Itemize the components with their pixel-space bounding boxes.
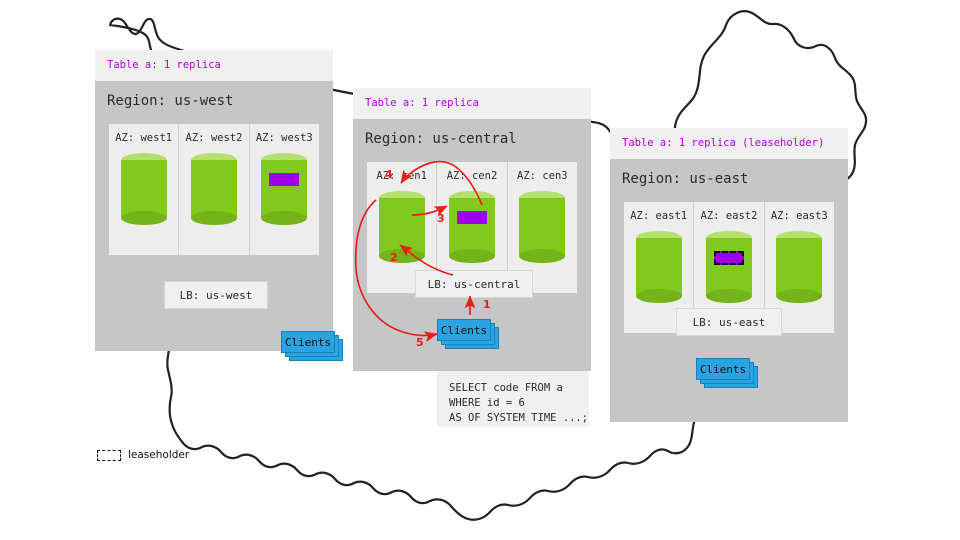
load-balancer-us-west[interactable]: LB: us-west (164, 281, 268, 309)
az-label-east2: AZ: east2 (701, 210, 758, 222)
cylinder-east2[interactable] (706, 231, 752, 303)
clients-label-us-west[interactable]: Clients (281, 331, 335, 353)
clients-us-central[interactable]: Clients (437, 319, 499, 349)
az-strip-us-west: AZ: west1 AZ: west2 AZ: west3 (109, 124, 319, 255)
region-header-us-east: Table a: 1 replica (leaseholder) (610, 128, 848, 159)
cylinder-bottom-west2 (191, 211, 237, 225)
cylinder-body-cen1 (379, 198, 425, 256)
leaseholder-swatch-icon (97, 450, 121, 461)
cylinder-west3[interactable] (261, 153, 307, 225)
cylinder-cen1[interactable] (379, 191, 425, 263)
az-label-west2: AZ: west2 (186, 132, 243, 144)
az-label-west1: AZ: west1 (115, 132, 172, 144)
cylinder-bottom-cen2 (449, 249, 495, 263)
cylinder-body-cen3 (519, 198, 565, 256)
cylinder-bottom-east2 (706, 289, 752, 303)
az-label-east1: AZ: east1 (630, 210, 687, 222)
step-number-1: 1 (483, 298, 491, 311)
step-number-4: 4 (385, 168, 393, 181)
az-label-cen1: AZ: cen1 (376, 170, 427, 182)
cylinder-bottom-west1 (121, 211, 167, 225)
cylinder-body-cen2 (449, 198, 495, 256)
cylinder-east1[interactable] (636, 231, 682, 303)
cylinder-cen2[interactable] (449, 191, 495, 263)
cylinder-body-east1 (636, 238, 682, 296)
az-label-cen2: AZ: cen2 (447, 170, 498, 182)
region-panel-us-east: Table a: 1 replica (leaseholder) Region:… (610, 128, 848, 422)
az-cell-west2[interactable]: AZ: west2 (179, 124, 249, 255)
cylinder-bottom-east3 (776, 289, 822, 303)
region-title-us-west: Region: us-west (95, 81, 333, 109)
replica-block-west3[interactable] (269, 173, 299, 186)
clients-label-us-east[interactable]: Clients (696, 358, 750, 380)
step-number-3: 3 (437, 212, 445, 225)
sql-query-note: SELECT code FROM a WHERE id = 6 AS OF SY… (437, 371, 589, 427)
cylinder-bottom-cen3 (519, 249, 565, 263)
cylinder-body-east2 (706, 238, 752, 296)
region-header-us-west: Table a: 1 replica (95, 50, 333, 81)
az-label-east3: AZ: east3 (771, 210, 828, 222)
region-title-us-central: Region: us-central (353, 119, 591, 147)
clients-us-west[interactable]: Clients (281, 331, 343, 361)
az-cell-west3[interactable]: AZ: west3 (250, 124, 319, 255)
az-cell-west1[interactable]: AZ: west1 (109, 124, 179, 255)
cylinder-body-west2 (191, 160, 237, 218)
clients-label-us-central[interactable]: Clients (437, 319, 491, 341)
replica-block-east2-leaseholder[interactable] (714, 251, 744, 265)
cylinder-bottom-cen1 (379, 249, 425, 263)
replica-block-cen2[interactable] (457, 211, 487, 224)
az-label-cen3: AZ: cen3 (517, 170, 568, 182)
cylinder-bottom-east1 (636, 289, 682, 303)
region-panel-us-west: Table a: 1 replica Region: us-west AZ: w… (95, 50, 333, 351)
cylinder-body-west1 (121, 160, 167, 218)
legend: leaseholder (97, 449, 189, 461)
clients-us-east[interactable]: Clients (696, 358, 758, 388)
step-number-2: 2 (390, 251, 398, 264)
region-title-us-east: Region: us-east (610, 159, 848, 187)
region-panel-us-central: Table a: 1 replica Region: us-central AZ… (353, 88, 591, 371)
cylinder-body-east3 (776, 238, 822, 296)
cylinder-bottom-west3 (261, 211, 307, 225)
load-balancer-us-east[interactable]: LB: us-east (676, 308, 782, 336)
load-balancer-us-central[interactable]: LB: us-central (415, 270, 533, 298)
cylinder-body-west3 (261, 160, 307, 218)
cylinder-west1[interactable] (121, 153, 167, 225)
step-number-5: 5 (416, 336, 424, 349)
cylinder-east3[interactable] (776, 231, 822, 303)
legend-label: leaseholder (128, 449, 189, 461)
az-label-west3: AZ: west3 (256, 132, 313, 144)
cylinder-cen3[interactable] (519, 191, 565, 263)
cylinder-west2[interactable] (191, 153, 237, 225)
region-header-us-central: Table a: 1 replica (353, 88, 591, 119)
diagram-canvas: Table a: 1 replica Region: us-west AZ: w… (0, 0, 960, 540)
